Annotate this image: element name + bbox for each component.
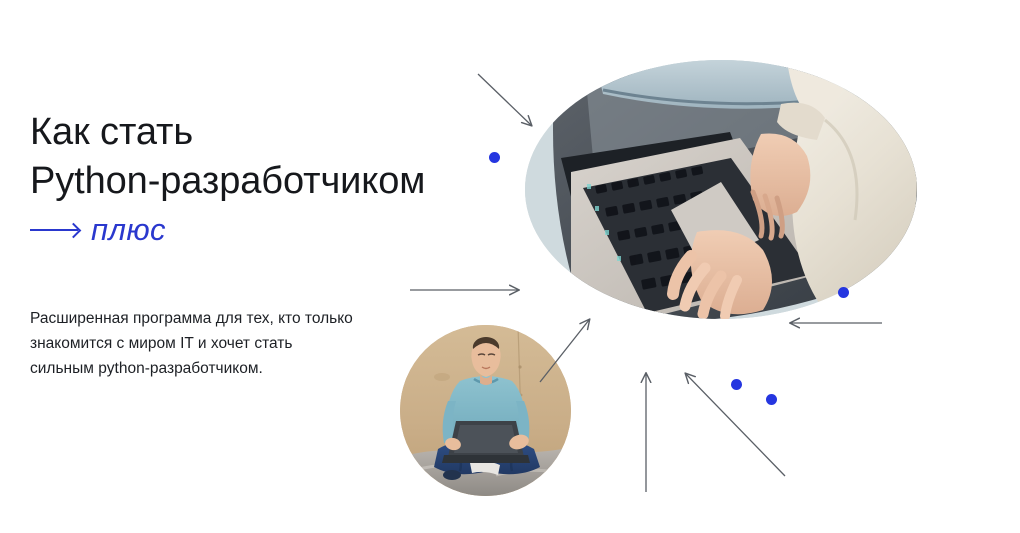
decor-dot-2 bbox=[838, 287, 849, 298]
laptop-typing-photo-graphic bbox=[525, 60, 917, 319]
developer-portrait-graphic bbox=[400, 325, 571, 496]
page-title: Как стать Python-разработчиком bbox=[30, 108, 500, 205]
laptop-typing-photo bbox=[525, 60, 917, 319]
hero-description: Расширенная программа для тех, кто тольк… bbox=[30, 306, 425, 381]
landing-hero-page: Как стать Python-разработчиком плюс Расш… bbox=[0, 0, 1020, 533]
decor-dot-4 bbox=[766, 394, 777, 405]
hero-text-block: Как стать Python-разработчиком плюс bbox=[30, 108, 500, 245]
hero-subtitle-label: плюс bbox=[91, 214, 166, 245]
developer-portrait-photo bbox=[400, 325, 571, 496]
hero-subtitle: плюс bbox=[30, 214, 500, 245]
decor-dot-1 bbox=[489, 152, 500, 163]
arrow-right-icon bbox=[30, 229, 78, 231]
decor-dot-3 bbox=[731, 379, 742, 390]
